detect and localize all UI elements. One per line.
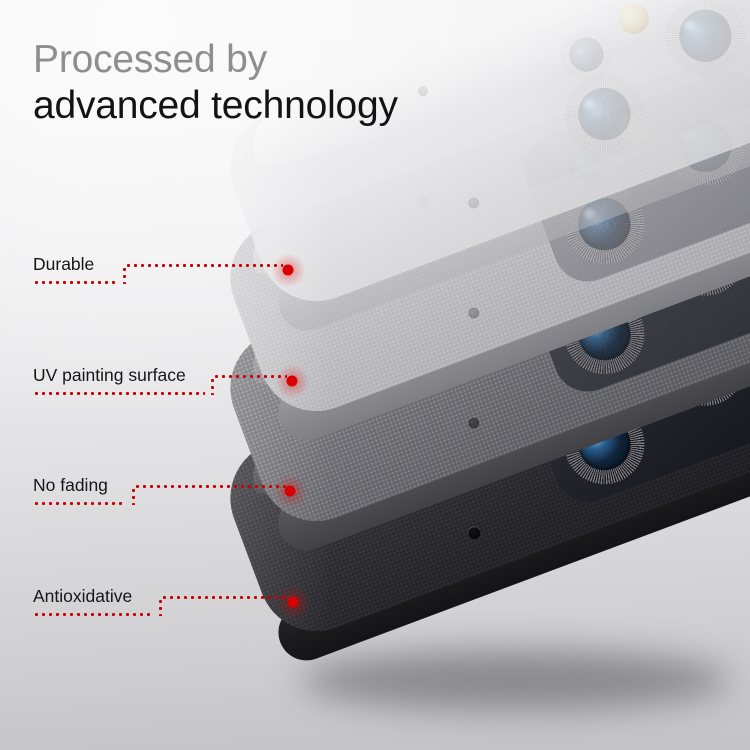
- callout-antioxidative: Antioxidative: [33, 580, 301, 616]
- callout-no-fading: No fading: [33, 469, 298, 505]
- callout-label: Durable: [33, 254, 94, 275]
- callout-leader-line: [161, 596, 289, 599]
- feature-callouts: Durable UV painting surface No fading An…: [0, 0, 750, 750]
- callout-label: Antioxidative: [33, 586, 132, 607]
- callout-marker-no-fading: [285, 486, 296, 497]
- callout-marker-durable: [283, 265, 294, 276]
- callout-uv-painting-surface: UV painting surface: [33, 359, 303, 395]
- callout-durable: Durable: [33, 248, 293, 284]
- callout-riser: [123, 266, 126, 284]
- callout-underline: [33, 613, 153, 616]
- callout-leader-line: [134, 485, 286, 488]
- callout-underline: [33, 502, 126, 505]
- callout-marker-uv-painting-surface: [287, 376, 298, 387]
- callout-leader-line: [125, 264, 283, 267]
- product-feature-poster: Processed by advanced technology: [0, 0, 750, 750]
- callout-label: UV painting surface: [33, 365, 186, 386]
- callout-marker-antioxidative: [288, 597, 299, 608]
- callout-riser: [132, 487, 135, 505]
- callout-riser: [159, 598, 162, 616]
- callout-riser: [211, 377, 214, 395]
- callout-underline: [33, 392, 205, 395]
- callout-label: No fading: [33, 475, 108, 496]
- callout-underline: [33, 281, 116, 284]
